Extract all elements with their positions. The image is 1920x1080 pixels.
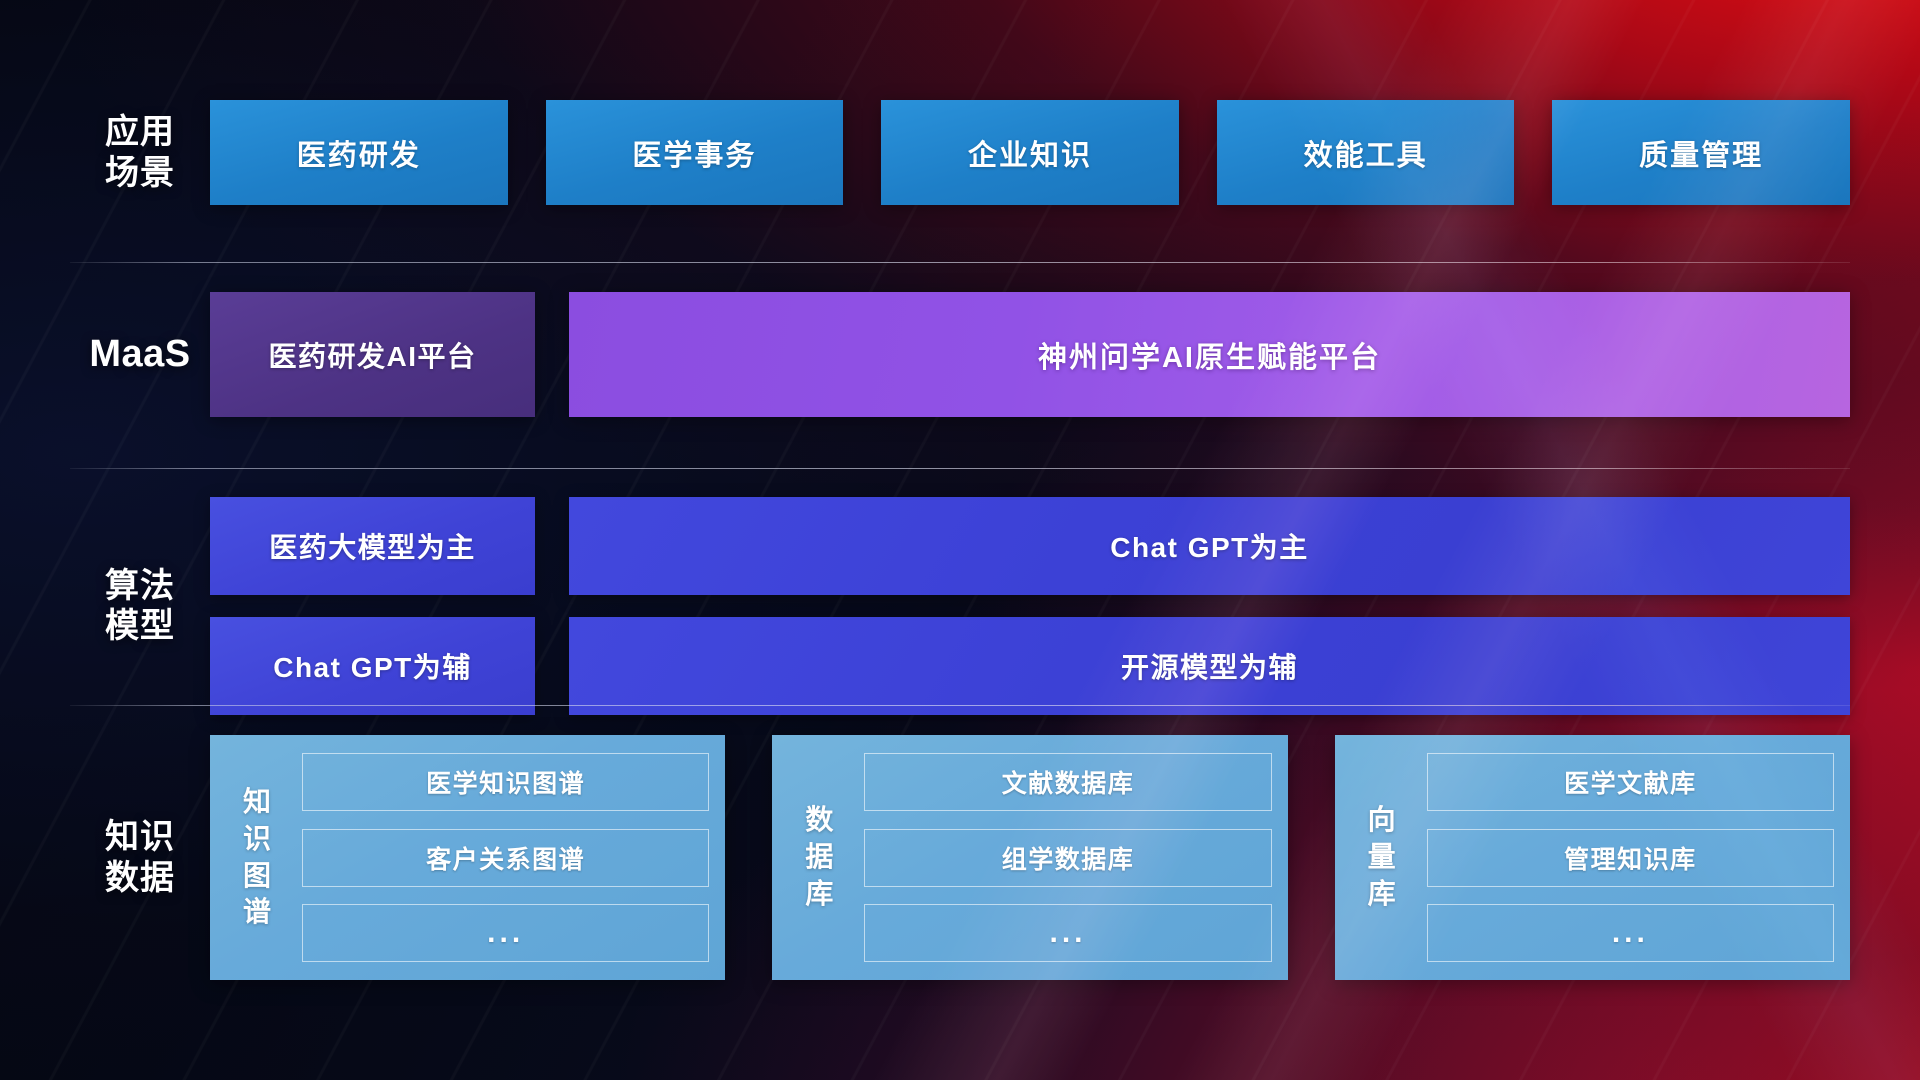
algo-box-opensource-secondary[interactable]: 开源模型为辅 xyxy=(569,617,1850,715)
algorithm-line-primary: 医药大模型为主 Chat GPT为主 xyxy=(210,497,1850,595)
panel-label-vector-store: 向 量 库 xyxy=(1349,749,1415,966)
app-box-quality-management[interactable]: 质量管理 xyxy=(1552,100,1850,205)
panel-label-knowledge-graph: 知 识 图 谱 xyxy=(224,749,290,966)
vlabel-char: 向 xyxy=(1368,802,1396,839)
row-maas: MaaS 医药研发AI平台 神州问学AI原生赋能平台 xyxy=(70,292,1850,417)
vlabel-char: 库 xyxy=(1368,876,1396,913)
row-label-algorithm-models: 算法 模型 xyxy=(70,566,210,646)
knowledge-panels: 知 识 图 谱 医学知识图谱 客户关系图谱 ... 数 据 xyxy=(210,735,1850,980)
divider-2 xyxy=(70,468,1850,469)
vlabel-char: 量 xyxy=(1368,839,1396,876)
row-label-knowledge-data: 知识 数据 xyxy=(70,817,210,897)
vlabel-char: 库 xyxy=(805,876,833,913)
row-label-line: 算法 xyxy=(70,566,210,606)
knowledge-panel-database[interactable]: 数 据 库 文献数据库 组学数据库 ... xyxy=(772,735,1287,980)
kd-item-more-knowledge-graph[interactable]: ... xyxy=(302,904,709,962)
kd-item-medical-literature-store[interactable]: 医学文献库 xyxy=(1427,753,1834,811)
architecture-diagram: 应用 场景 医药研发 医学事务 企业知识 效能工具 质量管理 MaaS 医药研发… xyxy=(0,0,1920,1080)
algorithm-boxes: 医药大模型为主 Chat GPT为主 Chat GPT为辅 开源模型为辅 xyxy=(210,497,1850,715)
row-knowledge-data: 知识 数据 知 识 图 谱 医学知识图谱 客户关系图谱 ... xyxy=(70,735,1850,980)
app-box-enterprise-knowledge[interactable]: 企业知识 xyxy=(881,100,1179,205)
divider-1 xyxy=(70,262,1850,263)
kd-item-more-database[interactable]: ... xyxy=(864,904,1271,962)
vlabel-char: 知 xyxy=(243,784,271,821)
kd-item-literature-database[interactable]: 文献数据库 xyxy=(864,753,1271,811)
application-scenario-boxes: 医药研发 医学事务 企业知识 效能工具 质量管理 xyxy=(210,100,1850,205)
panel-items-knowledge-graph: 医学知识图谱 客户关系图谱 ... xyxy=(302,749,709,966)
algo-box-chatgpt-primary[interactable]: Chat GPT为主 xyxy=(569,497,1850,595)
vlabel-char: 图 xyxy=(243,858,271,895)
app-box-pharma-rd[interactable]: 医药研发 xyxy=(210,100,508,205)
algo-box-pharma-large-model-primary[interactable]: 医药大模型为主 xyxy=(210,497,535,595)
row-label-line: 应用 xyxy=(70,112,210,152)
kd-item-management-knowledge-store[interactable]: 管理知识库 xyxy=(1427,829,1834,887)
vlabel-char: 数 xyxy=(805,802,833,839)
algo-box-chatgpt-secondary[interactable]: Chat GPT为辅 xyxy=(210,617,535,715)
panel-items-database: 文献数据库 组学数据库 ... xyxy=(864,749,1271,966)
algorithm-line-secondary: Chat GPT为辅 开源模型为辅 xyxy=(210,617,1850,715)
maas-box-shenzhou-wenxue-platform[interactable]: 神州问学AI原生赋能平台 xyxy=(569,292,1850,417)
kd-item-medical-knowledge-graph[interactable]: 医学知识图谱 xyxy=(302,753,709,811)
vlabel-char: 谱 xyxy=(243,894,271,931)
row-label-maas: MaaS xyxy=(70,332,210,377)
app-box-medical-affairs[interactable]: 医学事务 xyxy=(546,100,844,205)
kd-item-customer-relation-graph[interactable]: 客户关系图谱 xyxy=(302,829,709,887)
row-label-line: 知识 xyxy=(70,817,210,857)
divider-3 xyxy=(70,705,1850,706)
vlabel-char: 据 xyxy=(805,839,833,876)
row-application-scenarios: 应用 场景 医药研发 医学事务 企业知识 效能工具 质量管理 xyxy=(70,100,1850,205)
kd-item-more-vector-store[interactable]: ... xyxy=(1427,904,1834,962)
row-label-line: 数据 xyxy=(70,858,210,898)
app-box-efficiency-tools[interactable]: 效能工具 xyxy=(1217,100,1515,205)
row-label-application-scenarios: 应用 场景 xyxy=(70,112,210,192)
row-label-line: 场景 xyxy=(70,153,210,193)
knowledge-panel-knowledge-graph[interactable]: 知 识 图 谱 医学知识图谱 客户关系图谱 ... xyxy=(210,735,725,980)
kd-item-omics-database[interactable]: 组学数据库 xyxy=(864,829,1271,887)
maas-box-pharma-ai-platform[interactable]: 医药研发AI平台 xyxy=(210,292,535,417)
panel-label-database: 数 据 库 xyxy=(786,749,852,966)
panel-items-vector-store: 医学文献库 管理知识库 ... xyxy=(1427,749,1834,966)
row-label-line: 模型 xyxy=(70,606,210,646)
row-algorithm-models: 算法 模型 医药大模型为主 Chat GPT为主 Chat GPT为辅 开源模型… xyxy=(70,497,1850,715)
vlabel-char: 识 xyxy=(243,821,271,858)
knowledge-panel-vector-store[interactable]: 向 量 库 医学文献库 管理知识库 ... xyxy=(1335,735,1850,980)
maas-boxes: 医药研发AI平台 神州问学AI原生赋能平台 xyxy=(210,292,1850,417)
